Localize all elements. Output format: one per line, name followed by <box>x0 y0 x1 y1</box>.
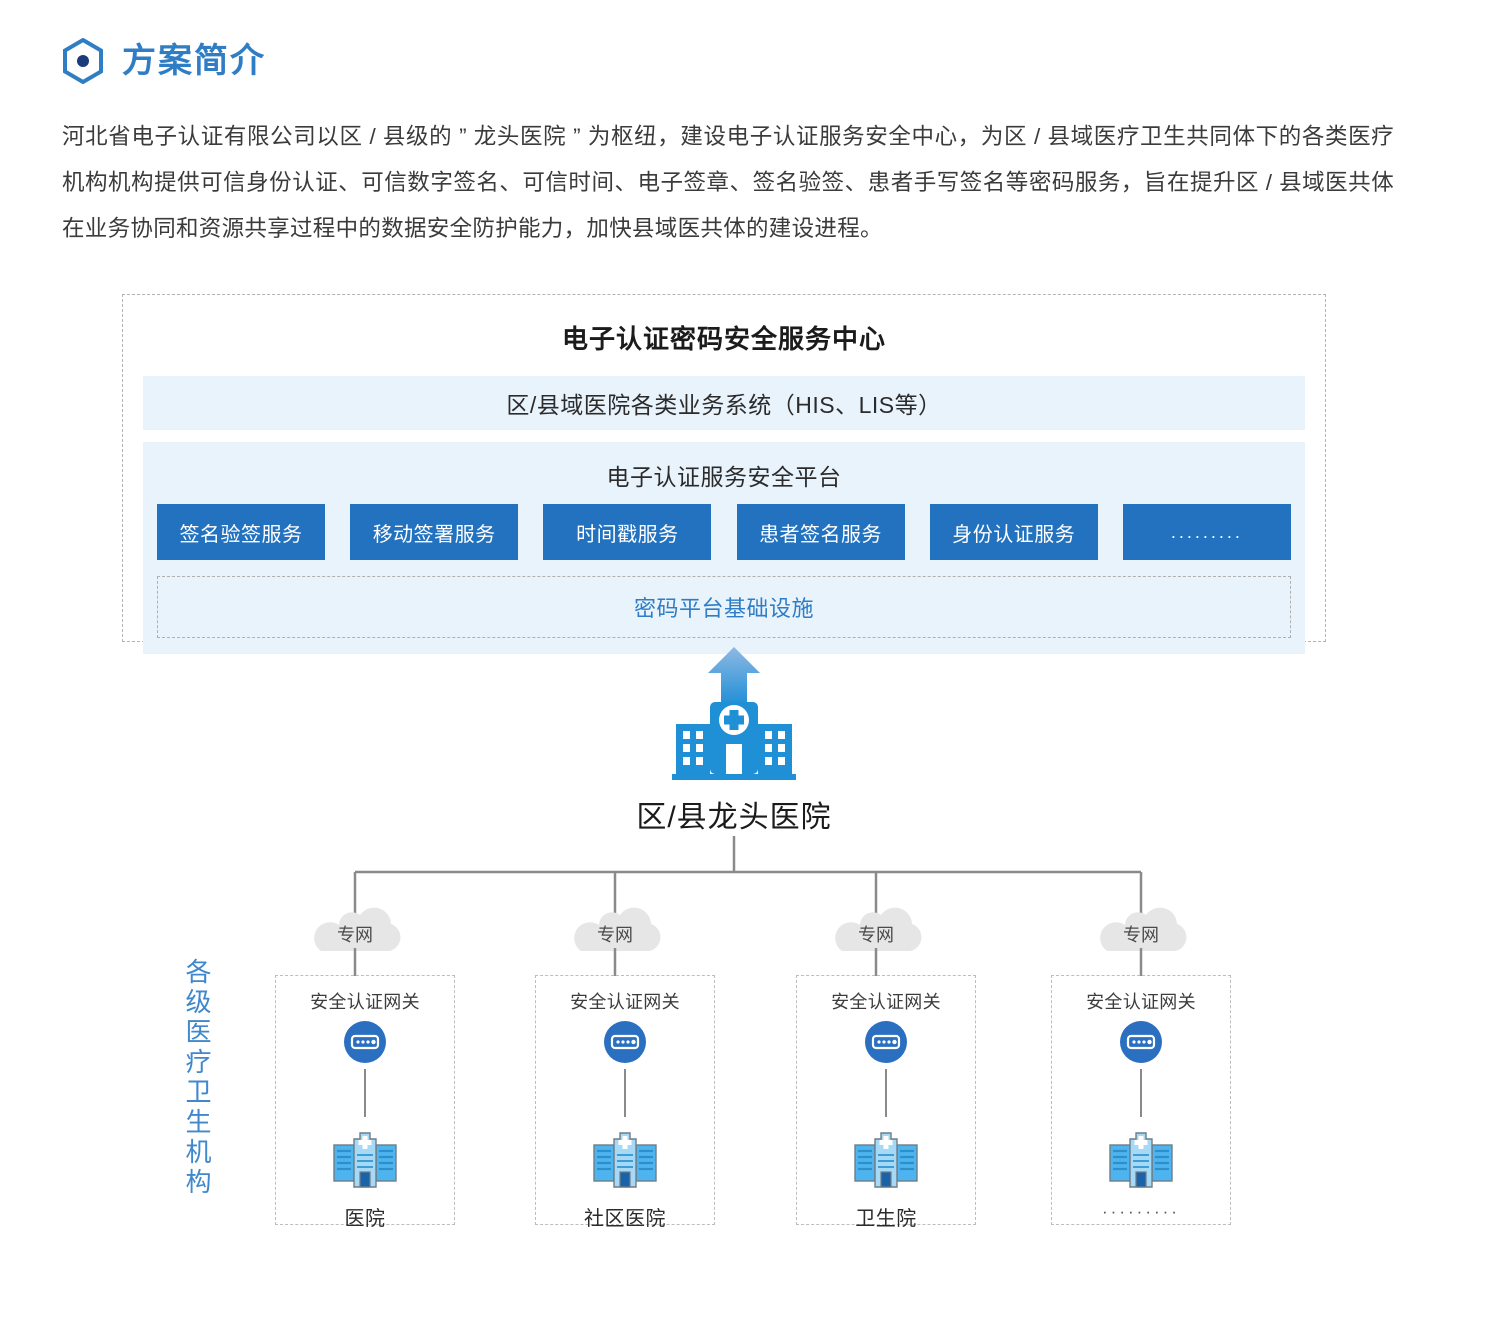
cloud-to-box-connectors <box>0 948 1500 978</box>
gateway-label: 安全认证网关 <box>536 988 714 1014</box>
gateway-router-icon <box>603 1020 647 1069</box>
institution-box-community-hospital: 安全认证网关 <box>535 975 715 1225</box>
network-cloud-3: 专网 <box>822 905 930 953</box>
service-box-more[interactable]: ......... <box>1123 504 1291 560</box>
network-cloud-label: 专网 <box>301 921 409 947</box>
gateway-router-icon <box>343 1020 387 1069</box>
page-header: 方案简介 <box>62 38 266 84</box>
hospital-small-icon <box>329 1117 401 1194</box>
platform-panel: 电子认证服务安全平台 签名验签服务 移动签署服务 时间戳服务 患者签名服务 身份… <box>143 442 1305 654</box>
institution-box-more: 安全认证网关 <box>1051 975 1231 1225</box>
platform-title: 电子认证服务安全平台 <box>143 454 1305 504</box>
service-box-identity-auth[interactable]: 身份认证服务 <box>930 504 1098 560</box>
service-box-timestamp[interactable]: 时间戳服务 <box>543 504 711 560</box>
institution-label: 卫生院 <box>797 1202 975 1231</box>
arrow-up-icon <box>706 645 762 705</box>
service-box-patient-signature[interactable]: 患者签名服务 <box>737 504 905 560</box>
gateway-building-connector <box>624 1069 626 1117</box>
hospital-small-icon <box>1105 1117 1177 1194</box>
network-cloud-1: 专网 <box>301 905 409 953</box>
institution-label: 社区医院 <box>536 1202 714 1231</box>
business-systems-band: 区/县域医院各类业务系统（HIS、LIS等） <box>143 376 1305 430</box>
gateway-building-connector <box>1140 1069 1142 1117</box>
gateway-label: 安全认证网关 <box>797 988 975 1014</box>
gateway-building-connector <box>364 1069 366 1117</box>
hospital-small-icon <box>589 1117 661 1194</box>
institution-box-health-center: 安全认证网关 <box>796 975 976 1225</box>
network-cloud-label: 专网 <box>561 921 669 947</box>
service-box-row: 签名验签服务 移动签署服务 时间戳服务 患者签名服务 身份认证服务 ......… <box>143 504 1305 560</box>
institution-box-hospital: 安全认证网关 <box>275 975 455 1225</box>
institution-label: ········· <box>1052 1202 1230 1222</box>
hexagon-dot-icon <box>62 38 104 84</box>
institutions-side-label: 各级医疗卫生机构 <box>176 958 212 1198</box>
institution-label: 医院 <box>276 1202 454 1231</box>
hospital-building-icon <box>672 698 796 780</box>
intro-paragraph: 河北省电子认证有限公司以区 / 县级的 ” 龙头医院 ” 为枢纽，建设电子认证服… <box>62 114 1394 252</box>
service-center-block: 电子认证密码安全服务中心 区/县域医院各类业务系统（HIS、LIS等） 电子认证… <box>122 294 1326 642</box>
network-cloud-label: 专网 <box>822 921 930 947</box>
service-center-title: 电子认证密码安全服务中心 <box>123 319 1325 356</box>
gateway-label: 安全认证网关 <box>1052 988 1230 1014</box>
page-title: 方案简介 <box>122 44 266 78</box>
network-cloud-label: 专网 <box>1087 921 1195 947</box>
network-cloud-2: 专网 <box>561 905 669 953</box>
lead-hospital-label: 区/县龙头医院 <box>560 792 908 836</box>
hospital-small-icon <box>850 1117 922 1194</box>
tree-connector-lines <box>0 836 1500 922</box>
gateway-router-icon <box>864 1020 908 1069</box>
gateway-building-connector <box>885 1069 887 1117</box>
service-box-signature-verify[interactable]: 签名验签服务 <box>157 504 325 560</box>
gateway-label: 安全认证网关 <box>276 988 454 1014</box>
service-box-mobile-signing[interactable]: 移动签署服务 <box>350 504 518 560</box>
network-cloud-4: 专网 <box>1087 905 1195 953</box>
gateway-router-icon <box>1119 1020 1163 1069</box>
crypto-infrastructure-box: 密码平台基础设施 <box>157 576 1291 638</box>
